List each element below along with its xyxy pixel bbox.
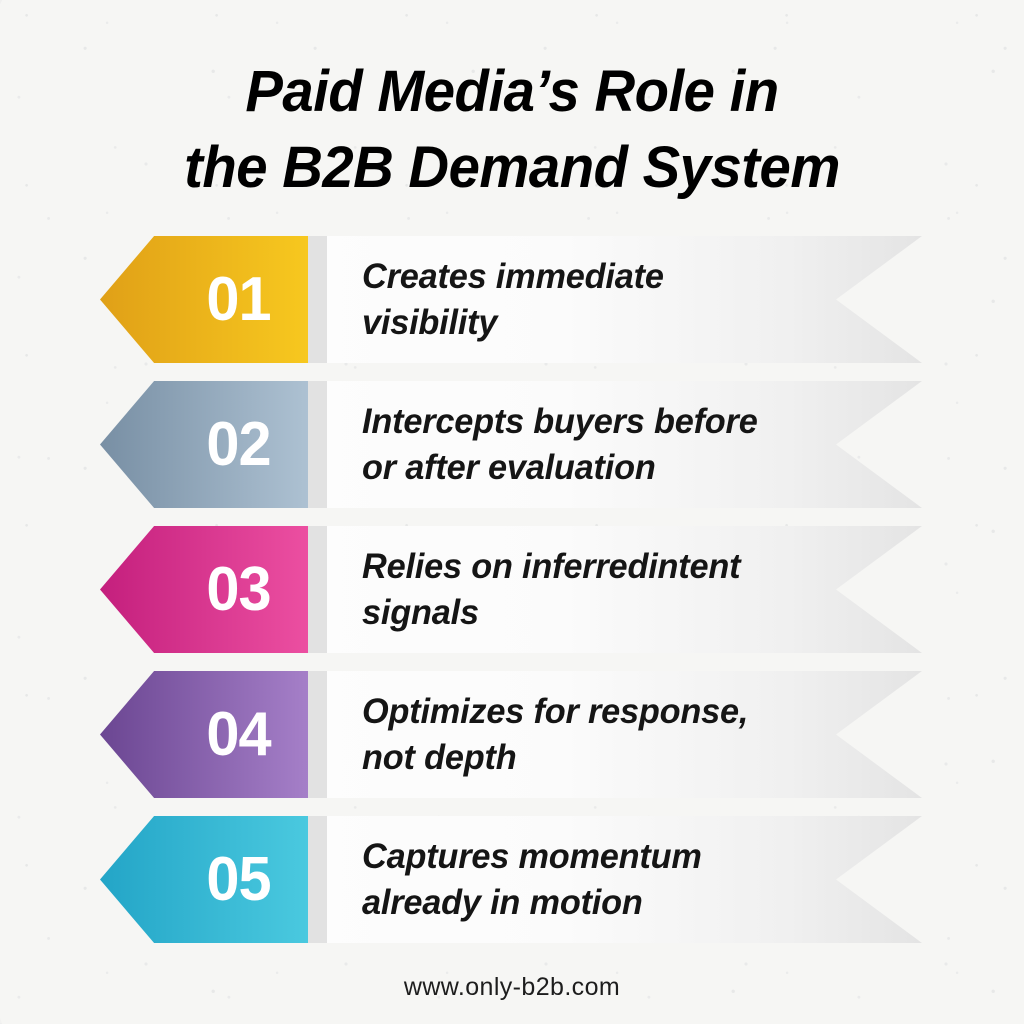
step-number-2: 02 bbox=[206, 414, 270, 476]
step-row: 05Captures momentumalready in motion bbox=[0, 816, 1024, 943]
step-text-line-1: Intercepts buyers before bbox=[362, 399, 872, 445]
step-row: 03Relies on inferredintentsignals bbox=[0, 526, 1024, 653]
step-text-line-1: Optimizes for response, bbox=[362, 689, 872, 735]
footer-url[interactable]: www.only-b2b.com bbox=[404, 973, 620, 1001]
step-number-5: 05 bbox=[206, 849, 270, 911]
step-chevron-3[interactable]: 03 bbox=[100, 526, 308, 653]
step-chevron-5[interactable]: 05 bbox=[100, 816, 308, 943]
step-chevron-4[interactable]: 04 bbox=[100, 671, 308, 798]
step-row: 04Optimizes for response,not depth bbox=[0, 671, 1024, 798]
step-text-line-2: visibility bbox=[362, 300, 872, 346]
step-text-line-1: Captures momentum bbox=[362, 834, 872, 880]
title-line-2: the B2B Demand System bbox=[15, 130, 1008, 206]
step-text-line-2: not depth bbox=[362, 735, 872, 781]
step-text-line-1: Relies on inferredintent bbox=[362, 544, 872, 590]
step-chevron-2[interactable]: 02 bbox=[100, 381, 308, 508]
step-copy-2: Intercepts buyers beforeor after evaluat… bbox=[362, 381, 882, 508]
step-divider-1 bbox=[308, 236, 327, 363]
step-text-line-2: or after evaluation bbox=[362, 445, 872, 491]
step-text-line-2: already in motion bbox=[362, 880, 872, 926]
step-number-3: 03 bbox=[206, 559, 270, 621]
step-copy-3: Relies on inferredintentsignals bbox=[362, 526, 882, 653]
step-divider-2 bbox=[308, 381, 327, 508]
step-copy-5: Captures momentumalready in motion bbox=[362, 816, 882, 943]
step-row: 02Intercepts buyers beforeor after evalu… bbox=[0, 381, 1024, 508]
step-row: 01Creates immediatevisibility bbox=[0, 236, 1024, 363]
step-text-line-2: signals bbox=[362, 590, 872, 636]
step-number-4: 04 bbox=[206, 704, 270, 766]
step-number-1: 01 bbox=[206, 269, 270, 331]
title-line-1: Paid Media’s Role in bbox=[15, 54, 1008, 130]
steps-list: 01Creates immediatevisibility02Intercept… bbox=[0, 236, 1024, 961]
step-divider-3 bbox=[308, 526, 327, 653]
step-copy-4: Optimizes for response,not depth bbox=[362, 671, 882, 798]
step-divider-5 bbox=[308, 816, 327, 943]
step-divider-4 bbox=[308, 671, 327, 798]
step-text-line-1: Creates immediate bbox=[362, 254, 872, 300]
page-title: Paid Media’s Role in the B2B Demand Syst… bbox=[0, 54, 1024, 206]
footer: www.only-b2b.com bbox=[0, 973, 1024, 1002]
step-chevron-1[interactable]: 01 bbox=[100, 236, 308, 363]
step-copy-1: Creates immediatevisibility bbox=[362, 236, 882, 363]
